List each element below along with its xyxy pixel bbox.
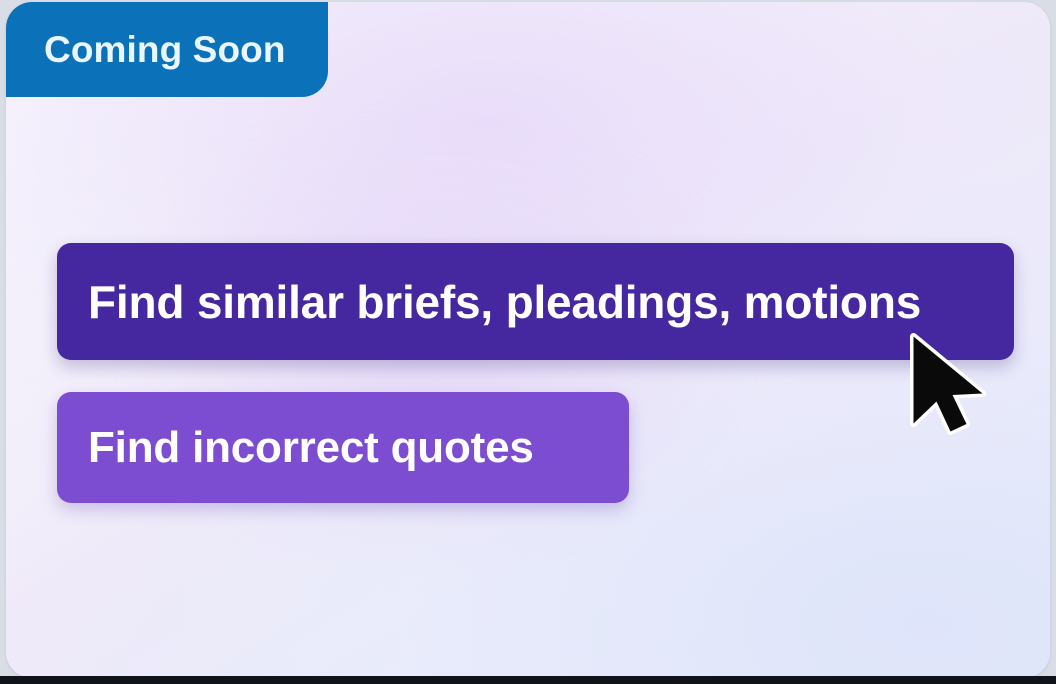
suggestion-find-similar-briefs-button[interactable]: Find similar briefs, pleadings, motions — [57, 243, 1014, 360]
app-panel: Coming Soon Find similar briefs, pleadin… — [6, 2, 1050, 678]
suggestion-label: Find incorrect quotes — [88, 423, 534, 473]
suggestion-label: Find similar briefs, pleadings, motions — [88, 275, 921, 329]
coming-soon-badge: Coming Soon — [6, 2, 328, 97]
bottom-edge-strip — [0, 676, 1056, 684]
coming-soon-label: Coming Soon — [44, 31, 286, 68]
suggestion-find-incorrect-quotes-button[interactable]: Find incorrect quotes — [57, 392, 629, 503]
screen-root: Coming Soon Find similar briefs, pleadin… — [0, 0, 1056, 684]
